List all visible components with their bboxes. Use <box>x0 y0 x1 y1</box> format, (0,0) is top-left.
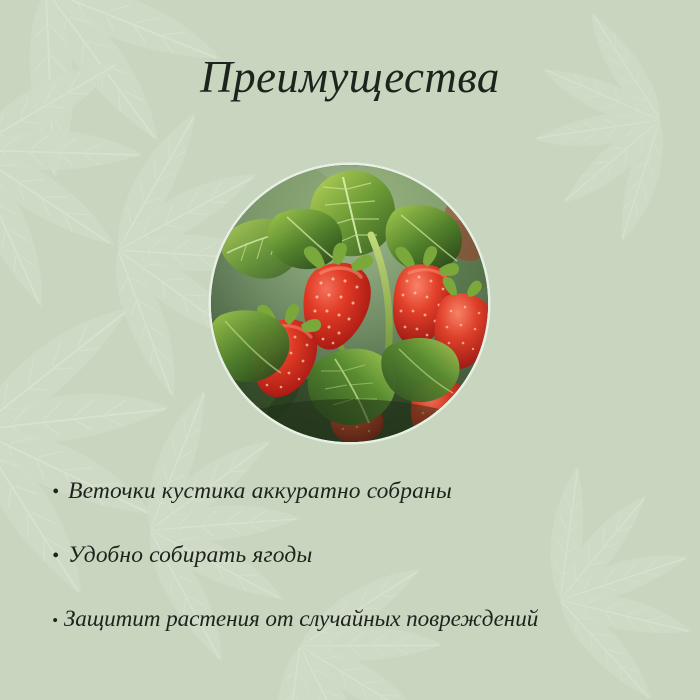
strawberry-photo: Куст садовой земляники со спелыми красны… <box>211 165 488 442</box>
strawberry-photo-circle: Куст садовой земляники со спелыми красны… <box>211 165 488 442</box>
list-item: • Защитит растения от случайных поврежде… <box>52 587 682 651</box>
list-item: • Удобно собирать ягоды <box>52 523 682 587</box>
bullet-dot-icon: • <box>52 589 58 653</box>
list-item-label: Защитит растения от случайных повреждени… <box>64 587 538 651</box>
benefits-list: • Веточки кустика аккуратно собраны • Уд… <box>52 459 682 651</box>
bullet-dot-icon: • <box>52 460 59 524</box>
slide-canvas: Преимущества Куст садовой земляники со с… <box>0 0 700 700</box>
list-item: • Веточки кустика аккуратно собраны <box>52 459 682 523</box>
slide-title: Преимущества <box>0 52 700 102</box>
list-item-label: Удобно собирать ягоды <box>68 523 312 587</box>
bullet-dot-icon: • <box>52 524 59 588</box>
list-item-label: Веточки кустика аккуратно собраны <box>68 459 452 523</box>
